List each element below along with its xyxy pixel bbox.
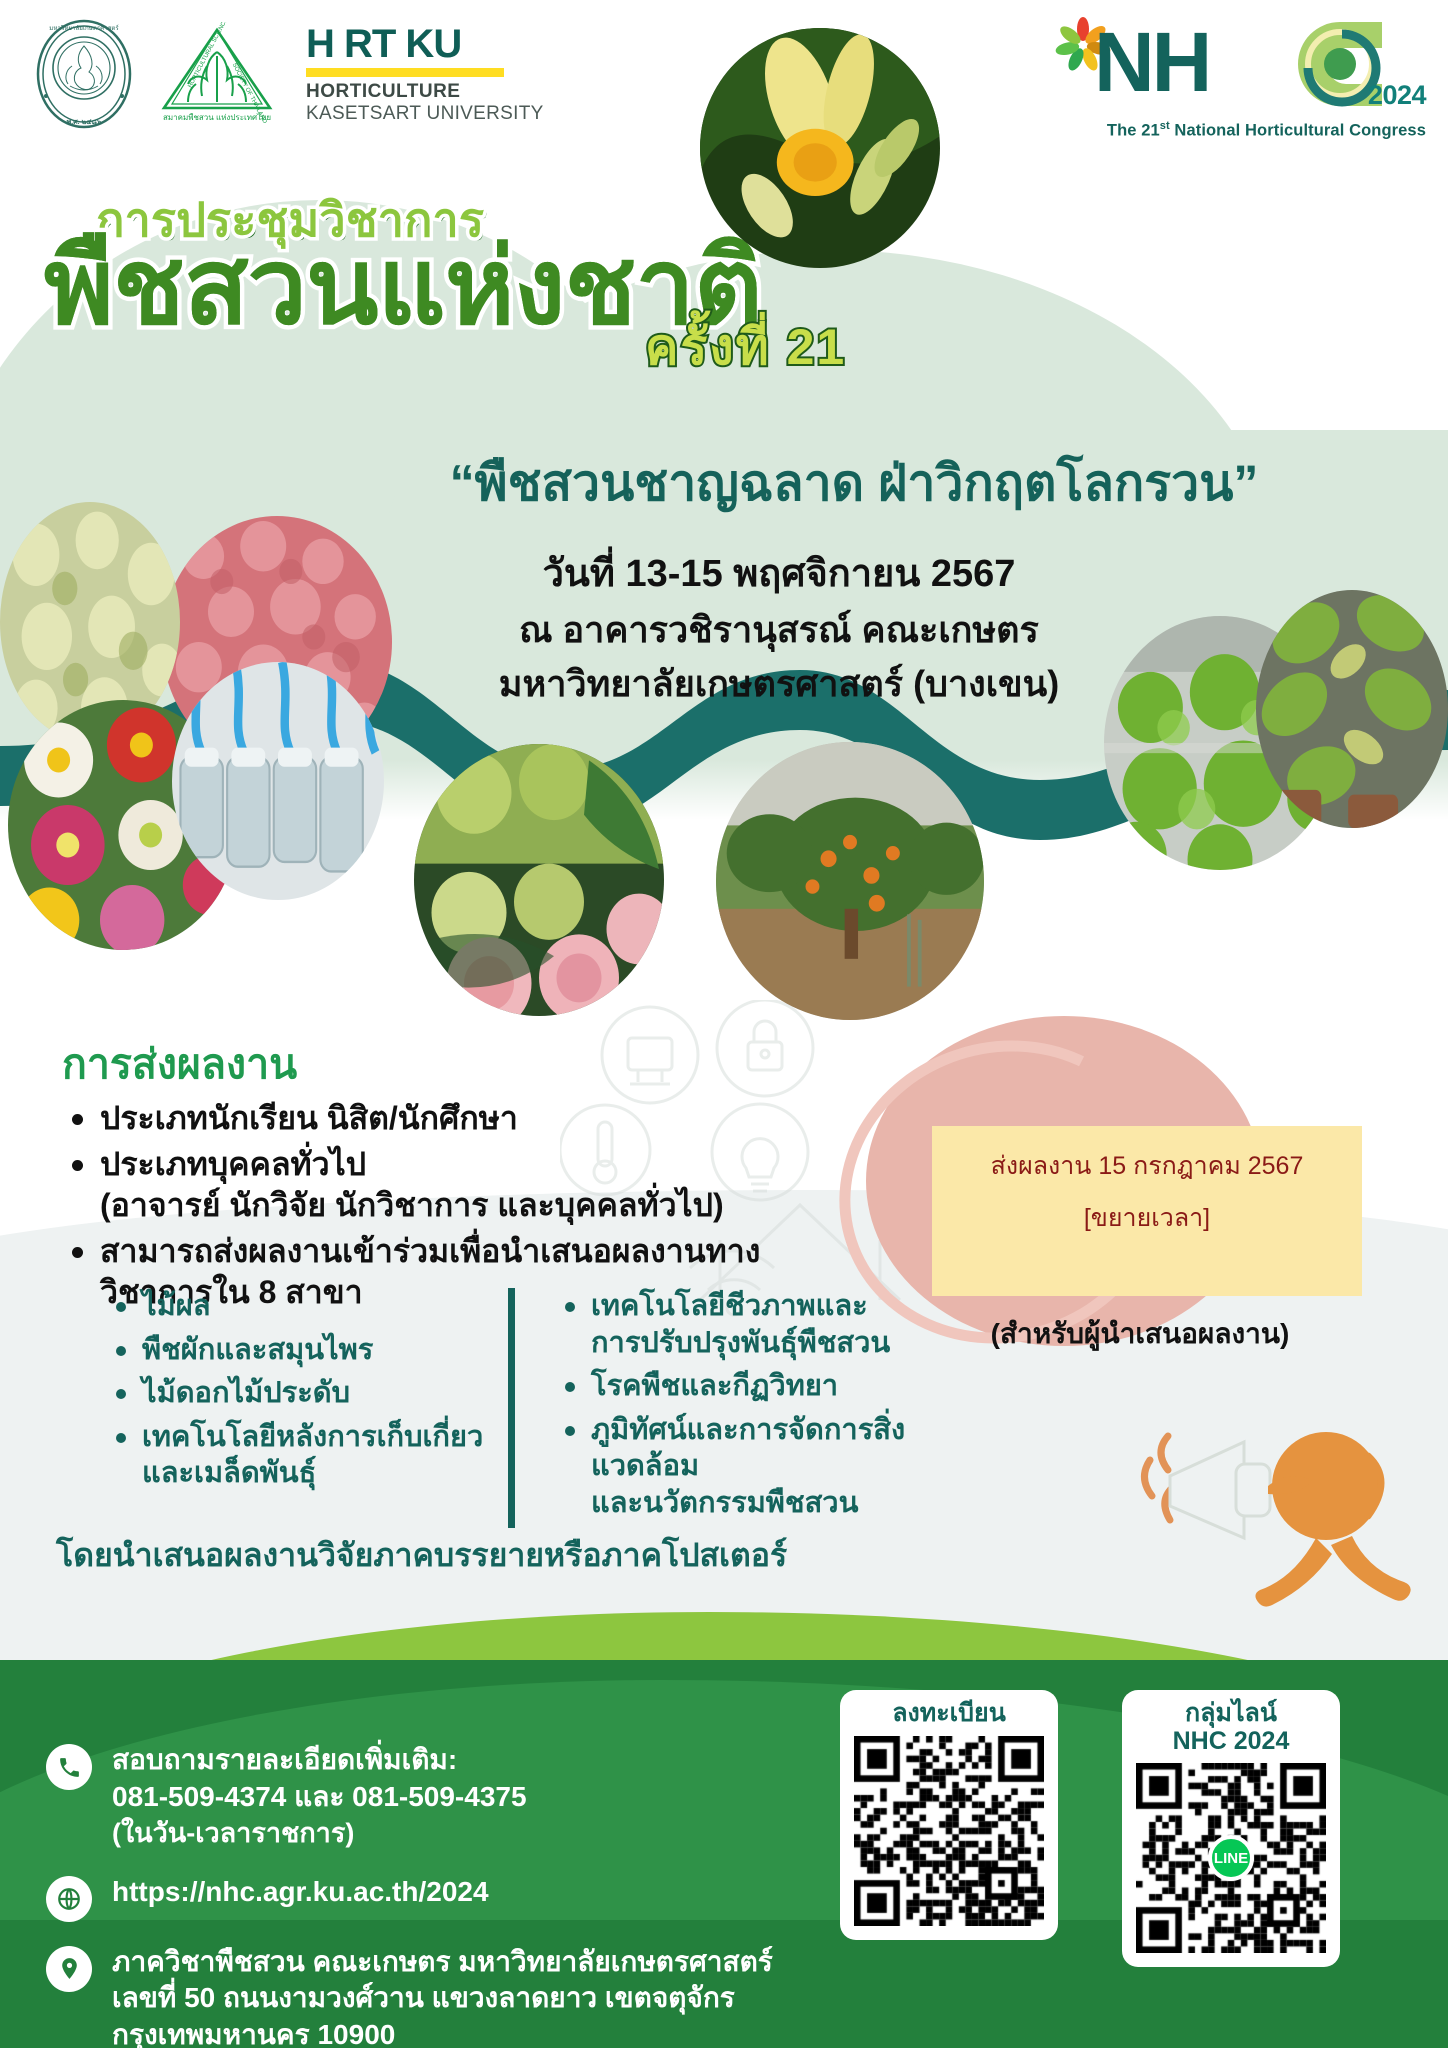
list-item: พืชผักและสมุนไพร: [110, 1332, 508, 1369]
phone-icon: [46, 1744, 92, 1790]
poster-root: พ.ศ. ๒๔๘๖ มหาวิทยาลัยเกษตรศาสตร์ สมาคมพื…: [0, 0, 1448, 2048]
register-qr[interactable]: [854, 1736, 1044, 1926]
bullet-text: ประเภทนักเรียน นิสิต/นักศึกษา: [100, 1100, 518, 1136]
nhc-logo: NH 2024 The 21st National Horticultural …: [1046, 14, 1426, 141]
guava-fruit-photo: [414, 744, 664, 1016]
topic-column-right: เทคโนโลยีชีวภาพและ การปรับปรุงพันธุ์พืชส…: [508, 1288, 978, 1528]
topic-line1: โรคพืชและกีฏวิทยา: [591, 1370, 838, 1402]
ornamental-plants-photo: [1256, 590, 1448, 828]
topic-line2: การปรับปรุงพันธุ์พืชสวน: [591, 1325, 978, 1362]
topic-line2: และนวัตกรรมพืชสวน: [591, 1485, 978, 1522]
map-pin-icon: [46, 1946, 92, 1992]
nhc-tagline-sup: st: [1160, 120, 1170, 132]
contact-phone-text: สอบถามรายละเอียดเพิ่มเติม: 081-509-4374 …: [112, 1742, 527, 1852]
contact-website-text[interactable]: https://nhc.agr.ku.ac.th/2024: [112, 1874, 489, 1911]
globe-icon: [46, 1876, 92, 1922]
contact-website-row[interactable]: https://nhc.agr.ku.ac.th/2024: [46, 1874, 806, 1922]
nhc-year: 2024: [1368, 80, 1426, 111]
line-qr-title-2: NHC 2024: [1134, 1728, 1328, 1756]
horticultural-society-logo: สมาคมพืชสวน แห่งประเทศไทย HORTICULTURAL …: [158, 22, 276, 126]
bullet-continuation: (อาจารย์ นักวิจัย นักวิชาการ และบุคคลทั่…: [100, 1185, 852, 1227]
deadline-audience-note: (สำหรับผู้นำเสนอผลงาน): [930, 1312, 1350, 1356]
list-item: ไม้ผล: [110, 1288, 508, 1325]
hort-ku-sub1: HORTICULTURE: [306, 82, 544, 103]
contact-phone-row: สอบถามรายละเอียดเพิ่มเติม: 081-509-4374 …: [46, 1742, 806, 1852]
topic-line1: เทคโนโลยีหลังการเก็บเกี่ยว: [142, 1421, 483, 1453]
line-group-qr[interactable]: LINE: [1136, 1763, 1326, 1953]
topic-line1: เทคโนโลยีชีวภาพและ: [591, 1290, 868, 1322]
line-badge: LINE: [1208, 1835, 1254, 1881]
hort-ku-logo: H RT KU HORTICULTURE KASETSART UNIVERSIT…: [306, 24, 544, 125]
svg-text:สมาคมพืชสวน แห่งประเทศไทย: สมาคมพืชสวน แห่งประเทศไทย: [163, 113, 271, 122]
bullet-text: ประเภทบุคคลทั่วไป: [100, 1146, 366, 1182]
nhc-tagline: The 21st National Horticultural Congress: [1046, 120, 1426, 141]
conference-slogan: “พืชสวนชาญฉลาด ฝ่าวิกฤตโลกรวน”: [0, 456, 1448, 511]
address-line-2: เลขที่ 50 ถนนงามวงศ์วาน แขวงลาดยาว เขตจต…: [112, 1980, 806, 2048]
hort-ku-sub2: KASETSART UNIVERSITY: [306, 103, 544, 125]
sprinkler-lineart: [1172, 158, 1392, 338]
svg-text:พ.ศ. ๒๔๘๖: พ.ศ. ๒๔๘๖: [67, 119, 102, 126]
contact-hours: (ในวัน-เวลาราชการ): [112, 1816, 527, 1852]
hort-ku-yellow-rule: [306, 68, 504, 77]
presentation-note: โดยนำเสนอผลงานวิจัยภาคบรรยายหรือภาคโปสเต…: [56, 1530, 787, 1581]
topic-line2: และเมล็ดพันธุ์: [142, 1455, 508, 1492]
topic-line1: ไม้ดอกไม้ประดับ: [142, 1377, 350, 1409]
ku-seal-logo: พ.ศ. ๒๔๘๖ มหาวิทยาลัยเกษตรศาสตร์: [30, 18, 138, 130]
contact-heading: สอบถามรายละเอียดเพิ่มเติม:: [112, 1742, 527, 1779]
nhc-tagline-prefix: The 21: [1107, 122, 1160, 140]
hort-ku-wordmark: H RT KU: [306, 24, 544, 64]
submission-heading: การส่งผลงาน: [62, 1032, 297, 1097]
list-item: ประเภทนักเรียน นิสิต/นักศึกษา: [62, 1098, 852, 1140]
topic-line1: พืชผักและสมุนไพร: [142, 1334, 373, 1366]
address-line-1: ภาควิชาพืชสวน คณะเกษตร มหาวิทยาลัยเกษตรศ…: [112, 1944, 806, 1981]
contact-phones: 081-509-4374 และ 081-509-4375: [112, 1779, 527, 1816]
topic-line1: ไม้ผล: [142, 1290, 210, 1322]
submission-bullets: ประเภทนักเรียน นิสิต/นักศึกษา ประเภทบุคค…: [62, 1098, 852, 1318]
lab-bottles-photo: [172, 662, 384, 900]
list-item: ไม้ดอกไม้ประดับ: [110, 1375, 508, 1412]
register-qr-title: ลงทะเบียน: [852, 1700, 1046, 1728]
deadline-date: ส่งผลงาน 15 กรกฎาคม 2567: [942, 1148, 1352, 1186]
orchard-photo: [716, 742, 984, 1020]
topic-column-left: ไม้ผล พืชผักและสมุนไพร ไม้ดอกไม้ประดับ เ…: [110, 1288, 508, 1528]
vanilla-flower-photo: [700, 28, 940, 268]
contact-block: สอบถามรายละเอียดเพิ่มเติม: 081-509-4374 …: [46, 1742, 806, 2048]
megaphone-person-illustration: [1140, 1420, 1440, 1650]
line-qr-title-1: กลุ่มไลน์: [1134, 1700, 1328, 1728]
edition-label: ครั้งที่ 21: [645, 322, 846, 372]
header-logos: พ.ศ. ๒๔๘๖ มหาวิทยาลัยเกษตรศาสตร์ สมาคมพื…: [30, 18, 544, 130]
contact-address-text: ภาควิชาพืชสวน คณะเกษตร มหาวิทยาลัยเกษตรศ…: [112, 1944, 806, 2048]
bullet-text: สามารถส่งผลงานเข้าร่วมเพื่อนำเสนอผลงานทา…: [100, 1233, 760, 1269]
list-item: ภูมิทัศน์และการจัดการสิ่งแวดล้อม และนวัต…: [559, 1412, 978, 1522]
nhc-letters: NH: [1094, 20, 1209, 104]
deadline-extension: [ขยายเวลา]: [942, 1200, 1352, 1238]
contact-address-row: ภาควิชาพืชสวน คณะเกษตร มหาวิทยาลัยเกษตรศ…: [46, 1944, 806, 2048]
svg-text:มหาวิทยาลัยเกษตรศาสตร์: มหาวิทยาลัยเกษตรศาสตร์: [49, 24, 119, 32]
event-date: วันที่ 13-15 พฤศจิกายน 2567: [230, 546, 1328, 603]
nhc-tagline-rest: National Horticultural Congress: [1170, 122, 1426, 140]
register-qr-card[interactable]: ลงทะเบียน: [840, 1690, 1058, 1940]
deadline-box: ส่งผลงาน 15 กรกฎาคม 2567 [ขยายเวลา]: [932, 1126, 1362, 1296]
list-item: โรคพืชและกีฏวิทยา: [559, 1368, 978, 1405]
topic-columns: ไม้ผล พืชผักและสมุนไพร ไม้ดอกไม้ประดับ เ…: [110, 1288, 1010, 1528]
svg-text:HORTICULTURAL SCIENCE: HORTICULTURAL SCIENCE: [187, 22, 229, 89]
list-item: ประเภทบุคคลทั่วไป (อาจารย์ นักวิจัย นักว…: [62, 1144, 852, 1227]
list-item: เทคโนโลยีหลังการเก็บเกี่ยว และเมล็ดพันธุ…: [110, 1419, 508, 1492]
topic-line1: ภูมิทัศน์และการจัดการสิ่งแวดล้อม: [591, 1414, 905, 1483]
line-group-qr-card[interactable]: กลุ่มไลน์ NHC 2024 LINE: [1122, 1690, 1340, 1967]
